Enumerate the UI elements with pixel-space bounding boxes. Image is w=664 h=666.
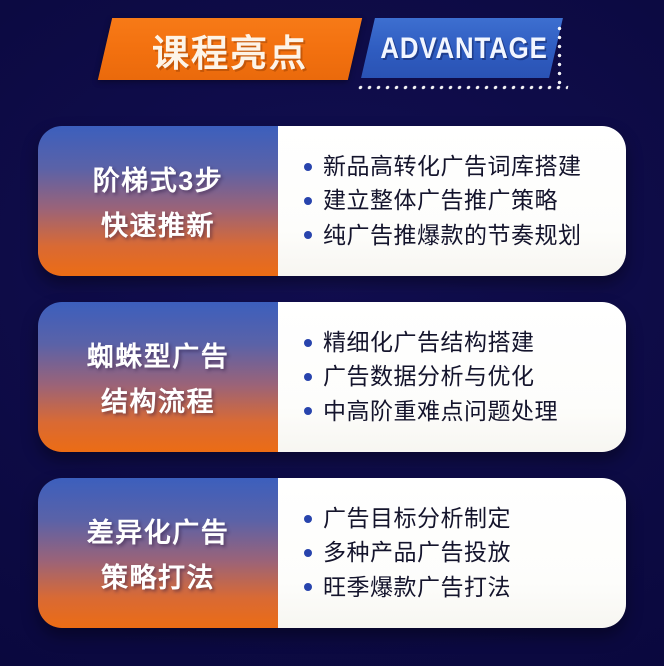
bullet-dot-icon [304,549,312,557]
card-bullet-panel: 广告目标分析制定 多种产品广告投放 旺季爆款广告打法 [278,478,626,628]
bullet-text: 建立整体广告推广策略 [323,188,558,213]
bullet-dot-icon [304,197,312,205]
bullet-text: 新品高转化广告词库搭建 [323,154,582,179]
bullet-text: 精细化广告结构搭建 [323,330,535,355]
highlight-card: 蜘蛛型广告 结构流程 精细化广告结构搭建 广告数据分析与优化 中高阶重难点问题处… [38,302,626,452]
bullet-text: 广告目标分析制定 [323,506,511,531]
bullet-dot-icon [304,583,312,591]
bullet-text: 中高阶重难点问题处理 [323,399,558,424]
bullet-dot-icon [304,231,312,239]
list-item: 广告数据分析与优化 [304,364,535,389]
bullet-text: 广告数据分析与优化 [323,364,535,389]
bullet-text: 旺季爆款广告打法 [323,575,511,600]
card-title-line2: 策略打法 [101,556,215,595]
bullet-dot-icon [304,373,312,381]
bullet-text: 纯广告推爆款的节奏规划 [323,223,582,248]
list-item: 纯广告推爆款的节奏规划 [304,223,582,248]
card-title-panel: 阶梯式3步 快速推新 [38,126,278,276]
poster-root: 课程亮点 ADVANTAGE 阶梯式3步 快速推新 新品高转化广告词库搭建 建立… [0,0,664,666]
card-title-line2: 结构流程 [101,380,215,419]
card-bullet-panel: 新品高转化广告词库搭建 建立整体广告推广策略 纯广告推爆款的节奏规划 [278,126,626,276]
card-title-line1: 差异化广告 [87,511,230,550]
bullet-dot-icon [304,515,312,523]
card-title-line2: 快速推新 [101,204,215,243]
bullet-dot-icon [304,407,312,415]
list-item: 多种产品广告投放 [304,540,511,565]
bullet-text: 多种产品广告投放 [323,540,511,565]
highlight-card: 阶梯式3步 快速推新 新品高转化广告词库搭建 建立整体广告推广策略 纯广告推爆款… [38,126,626,276]
list-item: 中高阶重难点问题处理 [304,399,558,424]
bullet-dot-icon [304,339,312,347]
card-title-panel: 蜘蛛型广告 结构流程 [38,302,278,452]
list-item: 精细化广告结构搭建 [304,330,535,355]
highlight-card: 差异化广告 策略打法 广告目标分析制定 多种产品广告投放 旺季爆款广告打法 [38,478,626,628]
card-title-line1: 蜘蛛型广告 [87,335,230,374]
card-title-line1: 阶梯式3步 [93,159,224,198]
list-item: 新品高转化广告词库搭建 [304,154,582,179]
highlight-card-list: 阶梯式3步 快速推新 新品高转化广告词库搭建 建立整体广告推广策略 纯广告推爆款… [0,0,664,666]
list-item: 广告目标分析制定 [304,506,511,531]
card-bullet-panel: 精细化广告结构搭建 广告数据分析与优化 中高阶重难点问题处理 [278,302,626,452]
card-title-panel: 差异化广告 策略打法 [38,478,278,628]
bullet-dot-icon [304,163,312,171]
list-item: 旺季爆款广告打法 [304,575,511,600]
list-item: 建立整体广告推广策略 [304,188,558,213]
